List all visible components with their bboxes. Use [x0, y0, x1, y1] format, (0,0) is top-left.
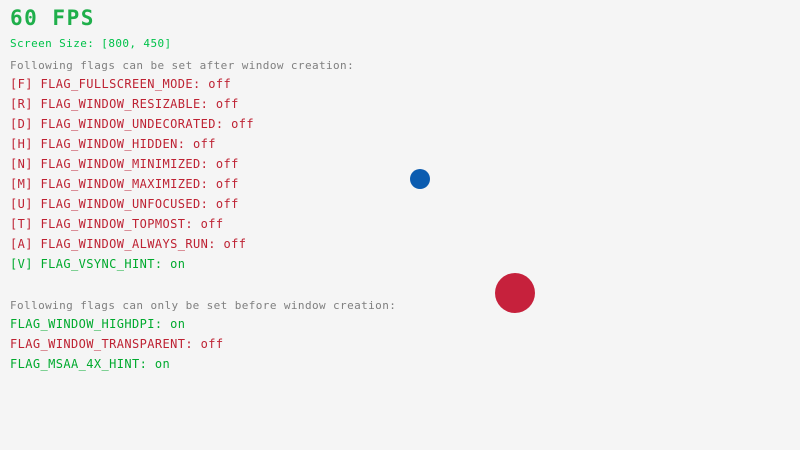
- flag-row-flag-window-highdpi: FLAG_WINDOW_HIGHDPI: on: [10, 318, 185, 330]
- flag-row-flag-window-topmost[interactable]: [T] FLAG_WINDOW_TOPMOST: off: [10, 218, 224, 230]
- flag-row-flag-window-hidden[interactable]: [H] FLAG_WINDOW_HIDDEN: off: [10, 138, 216, 150]
- flag-row-flag-window-unfocused[interactable]: [U] FLAG_WINDOW_UNFOCUSED: off: [10, 198, 239, 210]
- flag-row-flag-window-transparent: FLAG_WINDOW_TRANSPARENT: off: [10, 338, 224, 350]
- runtime-flags-header: Following flags can be set after window …: [10, 60, 354, 71]
- flag-row-flag-vsync-hint[interactable]: [V] FLAG_VSYNC_HINT: on: [10, 258, 185, 270]
- startup-flags-header: Following flags can only be set before w…: [10, 300, 396, 311]
- flag-row-flag-fullscreen-mode[interactable]: [F] FLAG_FULLSCREEN_MODE: off: [10, 78, 231, 90]
- red-ball-shape: [495, 273, 535, 313]
- fps-counter: 60 FPS: [10, 8, 95, 29]
- flag-row-flag-window-undecorated[interactable]: [D] FLAG_WINDOW_UNDECORATED: off: [10, 118, 254, 130]
- flag-row-flag-window-resizable[interactable]: [R] FLAG_WINDOW_RESIZABLE: off: [10, 98, 239, 110]
- flag-row-flag-msaa-4x-hint: FLAG_MSAA_4X_HINT: on: [10, 358, 170, 370]
- raylib-window-canvas[interactable]: 60 FPS Screen Size: [800, 450] Following…: [0, 0, 800, 450]
- screen-size-label: Screen Size: [800, 450]: [10, 38, 172, 49]
- flag-row-flag-window-always-run[interactable]: [A] FLAG_WINDOW_ALWAYS_RUN: off: [10, 238, 246, 250]
- flag-row-flag-window-minimized[interactable]: [N] FLAG_WINDOW_MINIMIZED: off: [10, 158, 239, 170]
- blue-ball-shape: [410, 169, 430, 189]
- flag-row-flag-window-maximized[interactable]: [M] FLAG_WINDOW_MAXIMIZED: off: [10, 178, 239, 190]
